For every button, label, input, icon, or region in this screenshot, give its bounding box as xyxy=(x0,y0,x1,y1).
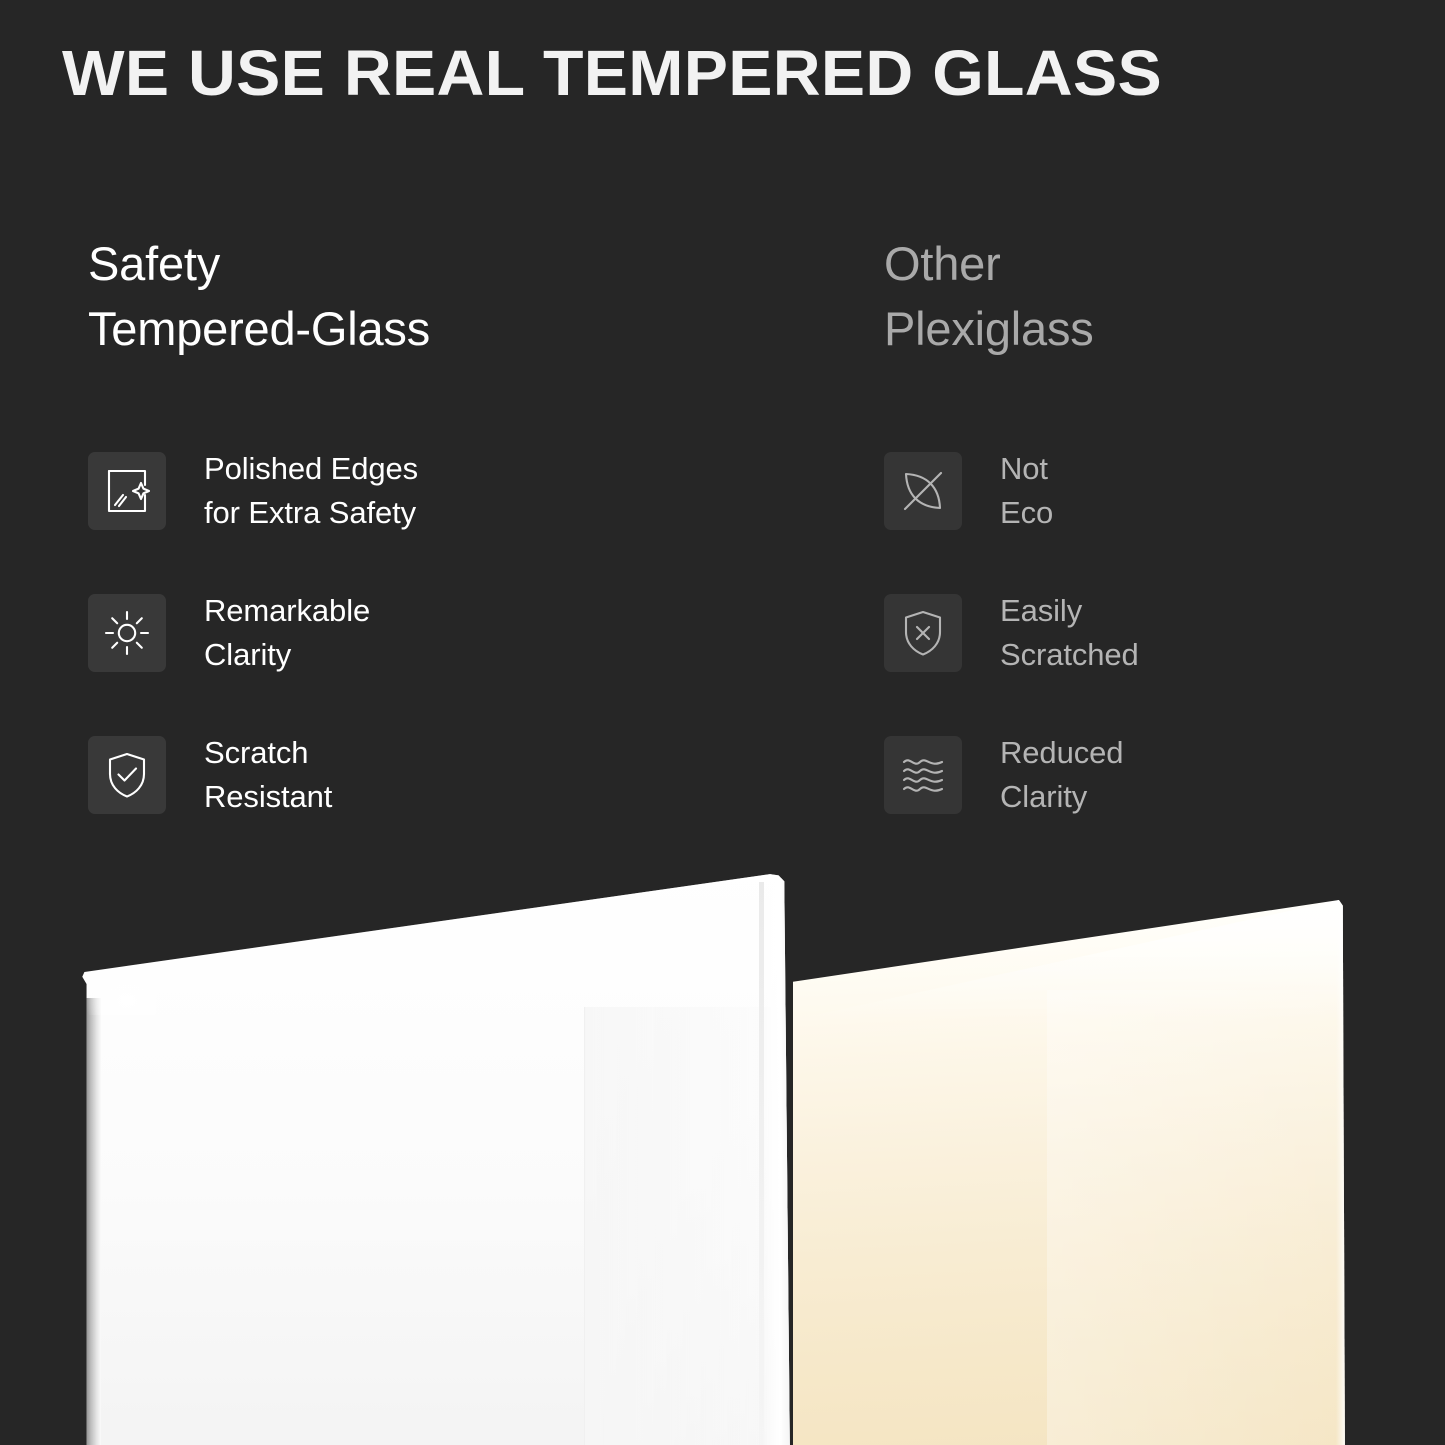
comparison-column-tempered-glass: Safety Tempered-Glass Polished Edges for… xyxy=(88,232,828,362)
feature-label: Not Eco xyxy=(1000,447,1053,535)
tempered-glass-polished-right-edge xyxy=(764,878,790,1445)
feature-item-easily-scratched: Easily Scratched xyxy=(884,594,1424,672)
leaf-crossed-out-icon xyxy=(884,452,962,530)
shield-x-icon xyxy=(884,594,962,672)
plexiglass-top-sheen xyxy=(793,900,1345,1020)
plexiglass-right-edge xyxy=(1336,900,1345,1445)
page-title: WE USE REAL TEMPERED GLASS xyxy=(62,41,1439,105)
glass-comparison-imagery xyxy=(0,840,1445,1445)
plexiglass-inner-reflection xyxy=(1047,990,1345,1445)
wavy-lines-distortion-icon xyxy=(884,736,962,814)
feature-item-remarkable-clarity: Remarkable Clarity xyxy=(88,594,828,672)
feature-label: Scratch Resistant xyxy=(204,731,332,819)
tempered-glass-top-bevel xyxy=(78,856,790,1031)
feature-label: Polished Edges for Extra Safety xyxy=(204,447,418,535)
column-heading-right: Other Plexiglass xyxy=(884,232,1424,362)
feature-list-left: Polished Edges for Extra Safety Remarkab… xyxy=(88,452,828,878)
comparison-column-plexiglass: Other Plexiglass Not Eco xyxy=(884,232,1424,362)
sun-brightness-icon xyxy=(88,594,166,672)
column-heading-left: Safety Tempered-Glass xyxy=(88,232,828,362)
feature-label: Remarkable Clarity xyxy=(204,589,370,677)
polished-glass-pane-sparkle-icon xyxy=(88,452,166,530)
feature-label: Easily Scratched xyxy=(1000,589,1139,677)
feature-item-reduced-clarity: Reduced Clarity xyxy=(884,736,1424,814)
tempered-glass-panel xyxy=(78,856,790,1445)
plexiglass-panel xyxy=(793,900,1345,1445)
feature-item-scratch-resistant: Scratch Resistant xyxy=(88,736,828,814)
shield-check-icon xyxy=(88,736,166,814)
tempered-glass-corner-gloss xyxy=(85,967,156,1015)
feature-item-not-eco: Not Eco xyxy=(884,452,1424,530)
tempered-glass-polished-left-edge xyxy=(86,998,101,1445)
feature-label: Reduced Clarity xyxy=(1000,731,1123,819)
feature-item-polished-edges: Polished Edges for Extra Safety xyxy=(88,452,828,530)
feature-list-right: Not Eco Easily Scratched xyxy=(884,452,1424,878)
infographic-root: WE USE REAL TEMPERED GLASS Safety Temper… xyxy=(0,0,1445,1445)
